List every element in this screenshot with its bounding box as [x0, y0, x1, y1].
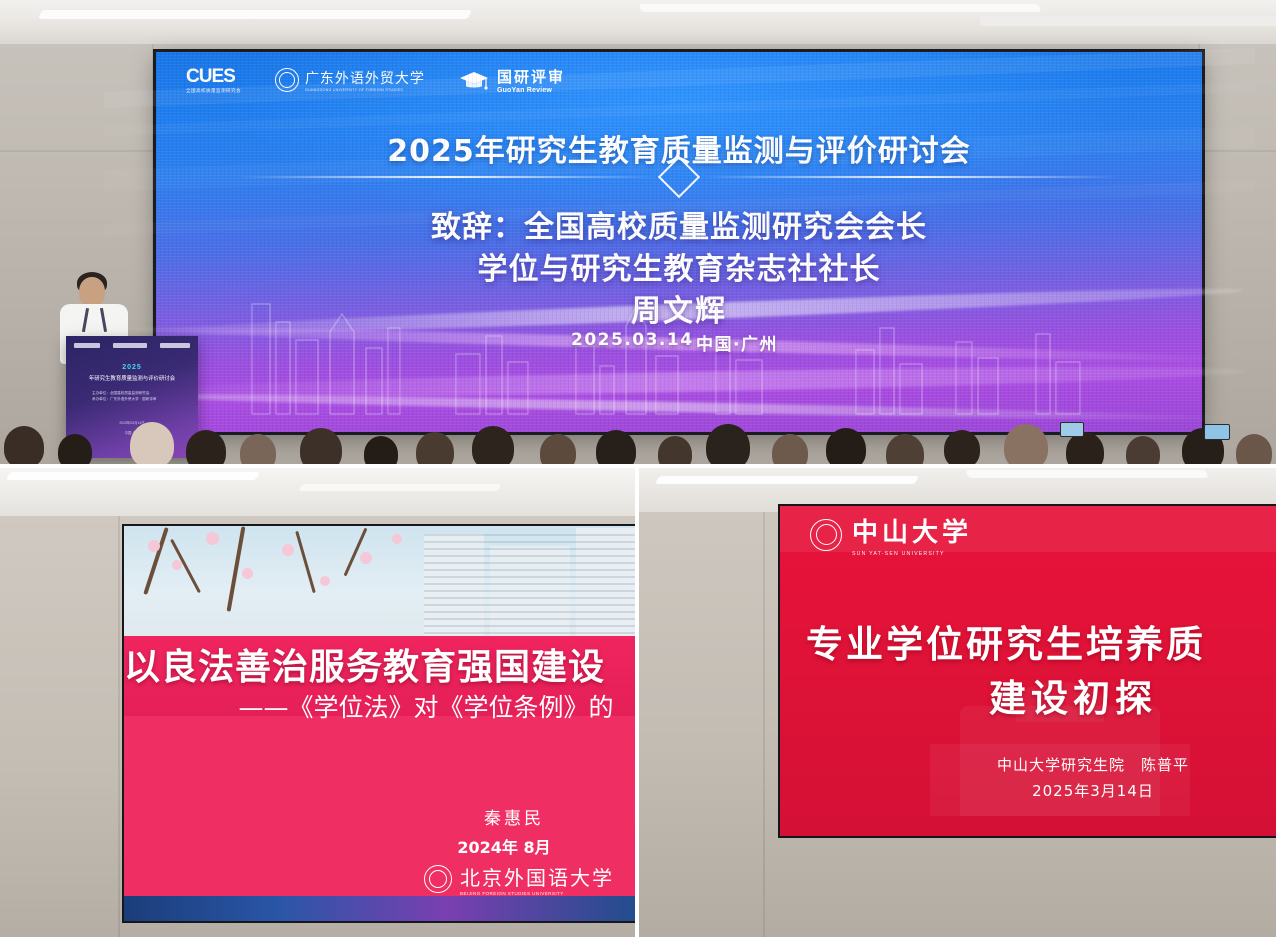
sysu-logo: 中山大学 SUN YAT-SEN UNIVERSITY [810, 512, 972, 557]
panel-bottom-left-lecture: 以良法善治服务教育强国建设 ——《学位法》对《学位条例》的 秦惠民 2024年 … [0, 466, 637, 937]
phone-screen-icon [1204, 424, 1230, 440]
ceiling-light [965, 470, 1208, 478]
slide-presenter: 中山大学研究生院 陈普平 [780, 754, 1276, 775]
ceiling-light [980, 16, 1276, 26]
panel-top-keynote: CUES 全国高校质量监测研究会 广东外语外贸大学 GUANGDONG UNIV… [0, 0, 1276, 466]
slide-header-photo [124, 526, 637, 638]
slide-date: 2024年 8月 [124, 834, 637, 858]
led-screen-keynote: CUES 全国高校质量监测研究会 广东外语外贸大学 GUANGDONG UNIV… [156, 52, 1202, 432]
sysu-name-cn: 中山大学 [852, 512, 972, 549]
bfsu-name-cn: 北京外国语大学 [460, 862, 614, 891]
phone-screen-icon [1060, 422, 1084, 437]
podium-year: 2025 [66, 364, 198, 371]
slide-title: 以良法善治服务教育强国建设 [124, 638, 637, 690]
panel-bottom-right-lecture: 中山大学 SUN YAT-SEN UNIVERSITY 专业学位研究生培养质 建… [637, 466, 1276, 937]
slide-title-line-2: 建设初探 [780, 668, 1276, 722]
slide-bottom-strip [124, 896, 637, 921]
ceiling-light [655, 476, 919, 484]
wall-seam [763, 512, 765, 937]
slide-subtitle: ——《学位法》对《学位条例》的 [146, 688, 637, 724]
ceiling-light [38, 10, 472, 19]
ceiling-light [6, 472, 261, 480]
podium-title: 年研究生教育质量监测与评价研讨会 [66, 374, 198, 382]
bfsu-seal-icon [424, 865, 452, 893]
slide-date: 2025年3月14日 [780, 780, 1276, 801]
ceiling-light [639, 4, 1042, 12]
slide-author: 秦惠民 [124, 804, 637, 829]
collage-divider-vertical [635, 466, 639, 937]
sysu-name-en: SUN YAT-SEN UNIVERSITY [852, 551, 972, 557]
slide-sysu: 中山大学 SUN YAT-SEN UNIVERSITY 专业学位研究生培养质 建… [780, 506, 1276, 836]
slide-title-line-1: 专业学位研究生培养质 [806, 614, 1206, 668]
slide-degree-law: 以良法善治服务教育强国建设 ——《学位法》对《学位条例》的 秦惠民 2024年 … [124, 526, 637, 921]
conference-photo-collage: CUES 全国高校质量监测研究会 广东外语外贸大学 GUANGDONG UNIV… [0, 0, 1276, 937]
sysu-seal-icon [810, 519, 842, 551]
audience-top [0, 404, 1276, 466]
ceiling-light [298, 484, 501, 491]
bfsu-logo: 北京外国语大学 BEIJING FOREIGN STUDIES UNIVERSI… [424, 862, 614, 896]
wall-seam [118, 516, 120, 937]
podium-row-host: 承办单位：广东外语外贸大学 · 国研评审 [92, 396, 157, 402]
